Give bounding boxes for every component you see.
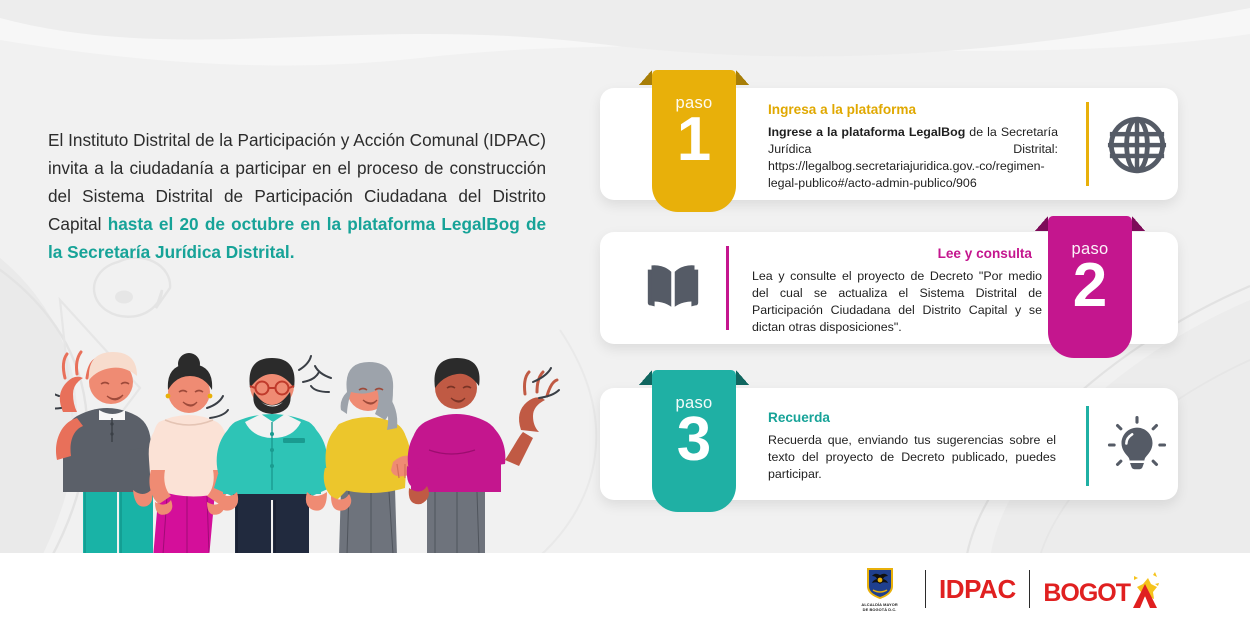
bogota-wordmark: BOGOT: [1043, 579, 1130, 608]
ribbon-fold-right: [1132, 216, 1145, 231]
step-3-body: Recuerda que, enviando tus sugerencias s…: [768, 432, 1056, 483]
step-2-body: Lea y consulte el proyecto de Decreto "P…: [752, 268, 1042, 336]
step-2-ribbon[interactable]: paso 2: [1048, 216, 1132, 358]
step-2-heading: Lee y consulta: [938, 246, 1032, 261]
footer-bar: ALCALDÍA MAYOR DE BOGOTÁ D.C. IDPAC BOGO…: [0, 553, 1250, 625]
person-4: [311, 362, 417, 554]
step-1-body: Ingrese a la plataforma LegalBog de la S…: [768, 124, 1058, 192]
step-3-heading: Recuerda: [768, 410, 830, 425]
step-1-body-bold: Ingrese a la plataforma LegalBog: [768, 125, 965, 139]
step-1-ribbon[interactable]: paso 1: [652, 70, 736, 212]
left-column: El Instituto Distrital de la Participaci…: [0, 0, 580, 625]
alcaldia-caption-line2: DE BOGOTÁ D.C.: [861, 607, 897, 612]
person-5: [407, 358, 559, 554]
logo-bar: ALCALDÍA MAYOR DE BOGOTÁ D.C. IDPAC BOGO…: [848, 561, 1162, 617]
step-2-ribbon-number: 2: [1048, 257, 1132, 315]
globe-icon: [1106, 114, 1168, 176]
intro-highlight-text: hasta el 20 de octubre en la plataforma …: [48, 214, 546, 262]
step-1-divider: [1086, 102, 1089, 186]
logo-divider-2: [1029, 570, 1030, 608]
infographic-canvas: El Instituto Distrital de la Participaci…: [0, 0, 1250, 625]
open-book-icon: [642, 256, 704, 318]
alcaldia-caption: ALCALDÍA MAYOR DE BOGOTÁ D.C.: [861, 602, 897, 612]
step-2-ribbon-label: paso: [1048, 240, 1132, 259]
intro-paragraph: El Instituto Distrital de la Participaci…: [48, 126, 546, 266]
steps-list: Ingresa a la plataforma Ingrese a la pla…: [598, 0, 1250, 560]
step-3-divider: [1086, 406, 1089, 486]
lightbulb-icon: [1106, 414, 1168, 476]
person-1: [55, 352, 153, 554]
step-3-ribbon-number: 3: [652, 411, 736, 469]
alcaldia-logo: ALCALDÍA MAYOR DE BOGOTÁ D.C.: [848, 566, 912, 612]
logo-divider-1: [925, 570, 926, 608]
ribbon-fold-left: [639, 70, 652, 85]
step-1-ribbon-label: paso: [652, 94, 736, 113]
bogota-coat-of-arms-icon: [865, 566, 895, 600]
step-2-divider: [726, 246, 729, 330]
idpac-logo: IDPAC: [939, 574, 1016, 605]
bogota-logo: BOGOT: [1043, 570, 1162, 608]
ribbon-fold-left: [1035, 216, 1048, 231]
step-3-ribbon-label: paso: [652, 394, 736, 413]
group-of-people-waving-illustration: [55, 338, 565, 554]
person-3: [214, 356, 330, 554]
ribbon-fold-right: [736, 370, 749, 385]
ribbon-fold-left: [639, 370, 652, 385]
step-1-ribbon-number: 1: [652, 111, 736, 169]
ribbon-fold-right: [736, 70, 749, 85]
bogota-star-icon: [1128, 570, 1162, 610]
step-3-ribbon[interactable]: paso 3: [652, 370, 736, 512]
step-1-heading: Ingresa a la plataforma: [768, 102, 916, 117]
